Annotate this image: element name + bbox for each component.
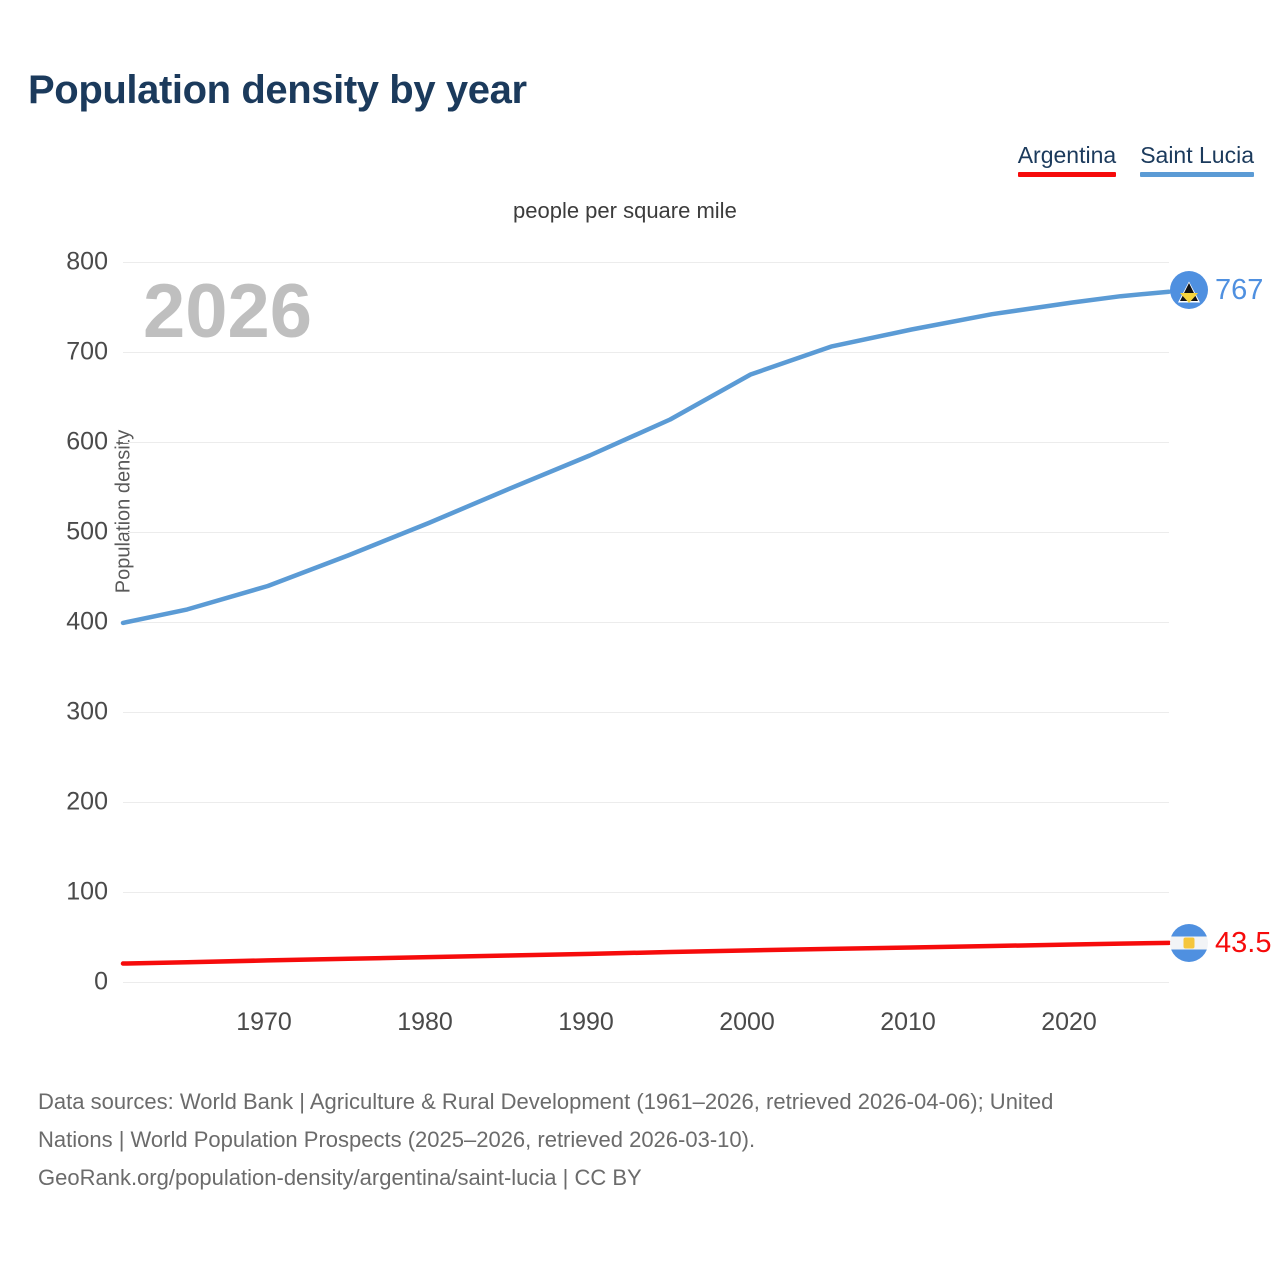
legend-rule-saint-lucia [1140, 172, 1254, 177]
y-tick-800: 800 [8, 248, 108, 277]
y-tick-300: 300 [8, 698, 108, 727]
footer-line-1: Data sources: World Bank | Agriculture &… [38, 1083, 1253, 1121]
y-axis-ticks: 800 700 600 500 400 300 200 100 0 [0, 262, 108, 982]
x-tick-1970: 1970 [236, 1008, 292, 1037]
endpoint-argentina: 43.5 [1170, 924, 1271, 962]
gridline-0 [123, 982, 1169, 983]
watermark-year: 2026 [143, 272, 312, 352]
x-tick-1990: 1990 [558, 1008, 614, 1037]
endpoint-saint-lucia: 767 [1170, 271, 1263, 309]
y-tick-400: 400 [8, 608, 108, 637]
footer-line-3: GeoRank.org/population-density/argentina… [38, 1159, 1253, 1197]
legend-rule-argentina [1018, 172, 1116, 177]
page-title: Population density by year [28, 68, 527, 113]
y-tick-100: 100 [8, 878, 108, 907]
argentina-flag-icon [1170, 924, 1208, 962]
y-tick-600: 600 [8, 428, 108, 457]
footer: Data sources: World Bank | Agriculture &… [38, 1083, 1253, 1197]
series-lines [123, 262, 1169, 982]
endpoint-value-saint-lucia: 767 [1215, 275, 1263, 305]
footer-line-2: Nations | World Population Prospects (20… [38, 1121, 1253, 1159]
legend-label-saint-lucia: Saint Lucia [1140, 142, 1254, 169]
x-tick-1980: 1980 [397, 1008, 453, 1037]
endpoint-value-argentina: 43.5 [1215, 928, 1271, 958]
legend-item-argentina[interactable]: Argentina [1018, 142, 1116, 177]
x-tick-2010: 2010 [880, 1008, 936, 1037]
x-tick-2020: 2020 [1041, 1008, 1097, 1037]
legend-item-saint-lucia[interactable]: Saint Lucia [1140, 142, 1254, 177]
legend-label-argentina: Argentina [1018, 142, 1116, 169]
y-tick-0: 0 [8, 968, 108, 997]
y-tick-700: 700 [8, 338, 108, 367]
x-tick-2000: 2000 [719, 1008, 775, 1037]
line-argentina [123, 943, 1169, 964]
saint-lucia-flag-icon [1170, 271, 1208, 309]
plot-area [123, 262, 1169, 982]
legend: Argentina Saint Lucia [1018, 142, 1254, 177]
y-tick-500: 500 [8, 518, 108, 547]
x-axis-ticks: 1970 1980 1990 2000 2010 2020 [123, 1008, 1169, 1048]
units-subtitle: people per square mile [513, 198, 737, 224]
chart-page: Population density by year Argentina Sai… [0, 0, 1280, 1280]
y-tick-200: 200 [8, 788, 108, 817]
